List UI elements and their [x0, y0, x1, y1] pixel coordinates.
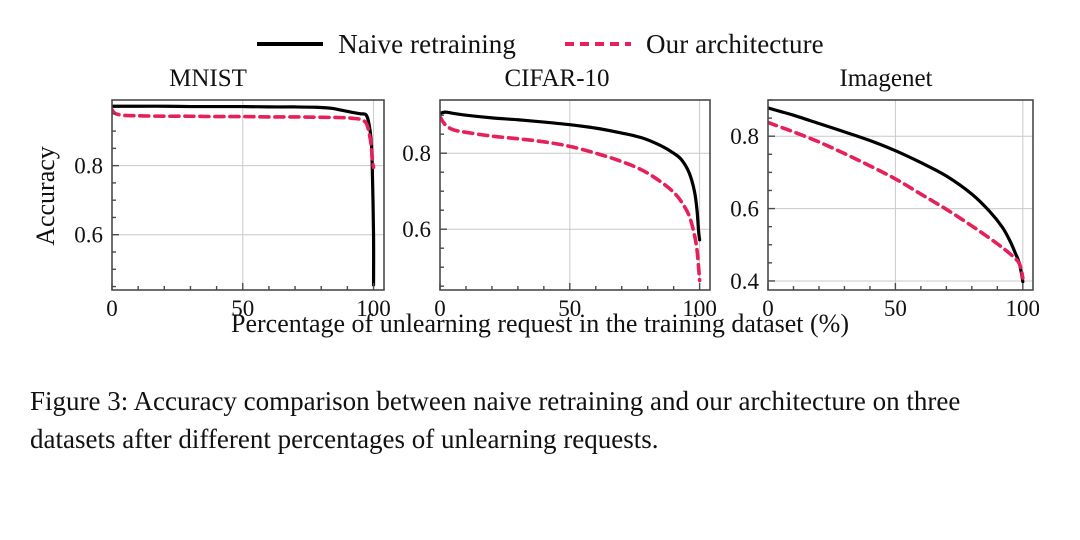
legend-label-our-architecture: Our architecture [646, 31, 824, 58]
y-tick-label: 0.6 [402, 217, 431, 242]
plot-background [112, 100, 384, 290]
panel-cifar10: CIFAR-10 0501000.60.8 [400, 64, 714, 304]
legend-line-solid-black [256, 34, 324, 54]
panel-mnist: MNIST 0501000.60.8 [28, 64, 388, 304]
legend-label-naive-retraining: Naive retraining [338, 31, 516, 58]
legend-line-dashed-red [564, 34, 632, 54]
y-tick-label: 0.6 [730, 197, 759, 222]
legend-entry-naive-retraining: Naive retraining [256, 31, 516, 58]
plot-area-cifar10: 0501000.60.8 [400, 96, 716, 324]
chart-svg-imagenet: 0501000.40.60.8 [726, 96, 1039, 324]
plot-area-mnist: 0501000.60.8 [28, 96, 390, 324]
figure-3-container: Naive retraining Our architecture Accura… [0, 0, 1080, 540]
x-axis-label: Percentage of unlearning request in the … [0, 308, 1080, 340]
y-tick-label: 0.8 [74, 154, 103, 179]
figure-caption: Figure 3: Accuracy comparison between na… [30, 382, 1052, 458]
legend-entry-our-architecture: Our architecture [564, 31, 824, 58]
chart-legend: Naive retraining Our architecture [0, 22, 1080, 66]
panel-title-imagenet: Imagenet [726, 64, 1046, 94]
y-tick-label: 0.8 [730, 124, 759, 149]
plot-background [768, 100, 1033, 290]
panel-imagenet: Imagenet 0501000.40.60.8 [726, 64, 1046, 304]
panel-title-cifar10: CIFAR-10 [400, 64, 714, 94]
y-tick-label: 0.8 [402, 141, 431, 166]
chart-panels-row: MNIST 0501000.60.8 CIFAR-10 0501000.60.8… [0, 64, 1080, 304]
y-tick-label: 0.4 [730, 269, 759, 294]
y-tick-label: 0.6 [74, 223, 103, 248]
panel-title-mnist: MNIST [28, 64, 388, 94]
plot-background [440, 100, 710, 290]
plot-area-imagenet: 0501000.40.60.8 [726, 96, 1039, 324]
chart-svg-cifar-10: 0501000.60.8 [400, 96, 716, 324]
chart-svg-mnist: 0501000.60.8 [28, 96, 390, 324]
